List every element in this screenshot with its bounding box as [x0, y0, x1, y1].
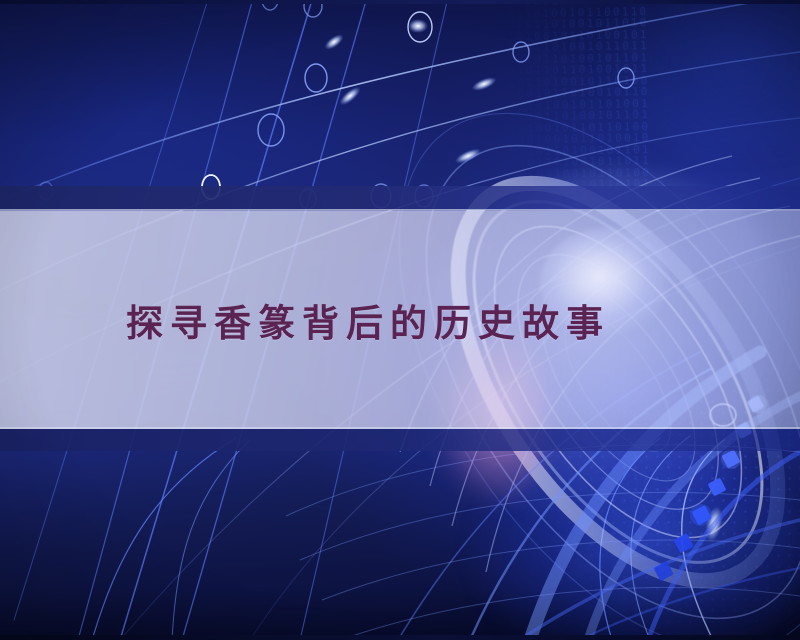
- bottom-edge: [0, 635, 800, 640]
- band-top-stripe: [0, 186, 800, 210]
- banner-image: 01001010110010001 10110100101100110 0010…: [0, 0, 800, 640]
- top-edge: [0, 0, 800, 4]
- title-container: 探寻香篆背后的历史故事: [0, 211, 800, 429]
- page-title: 探寻香篆背后的历史故事: [126, 293, 610, 347]
- band-bottom-stripe: [0, 429, 800, 451]
